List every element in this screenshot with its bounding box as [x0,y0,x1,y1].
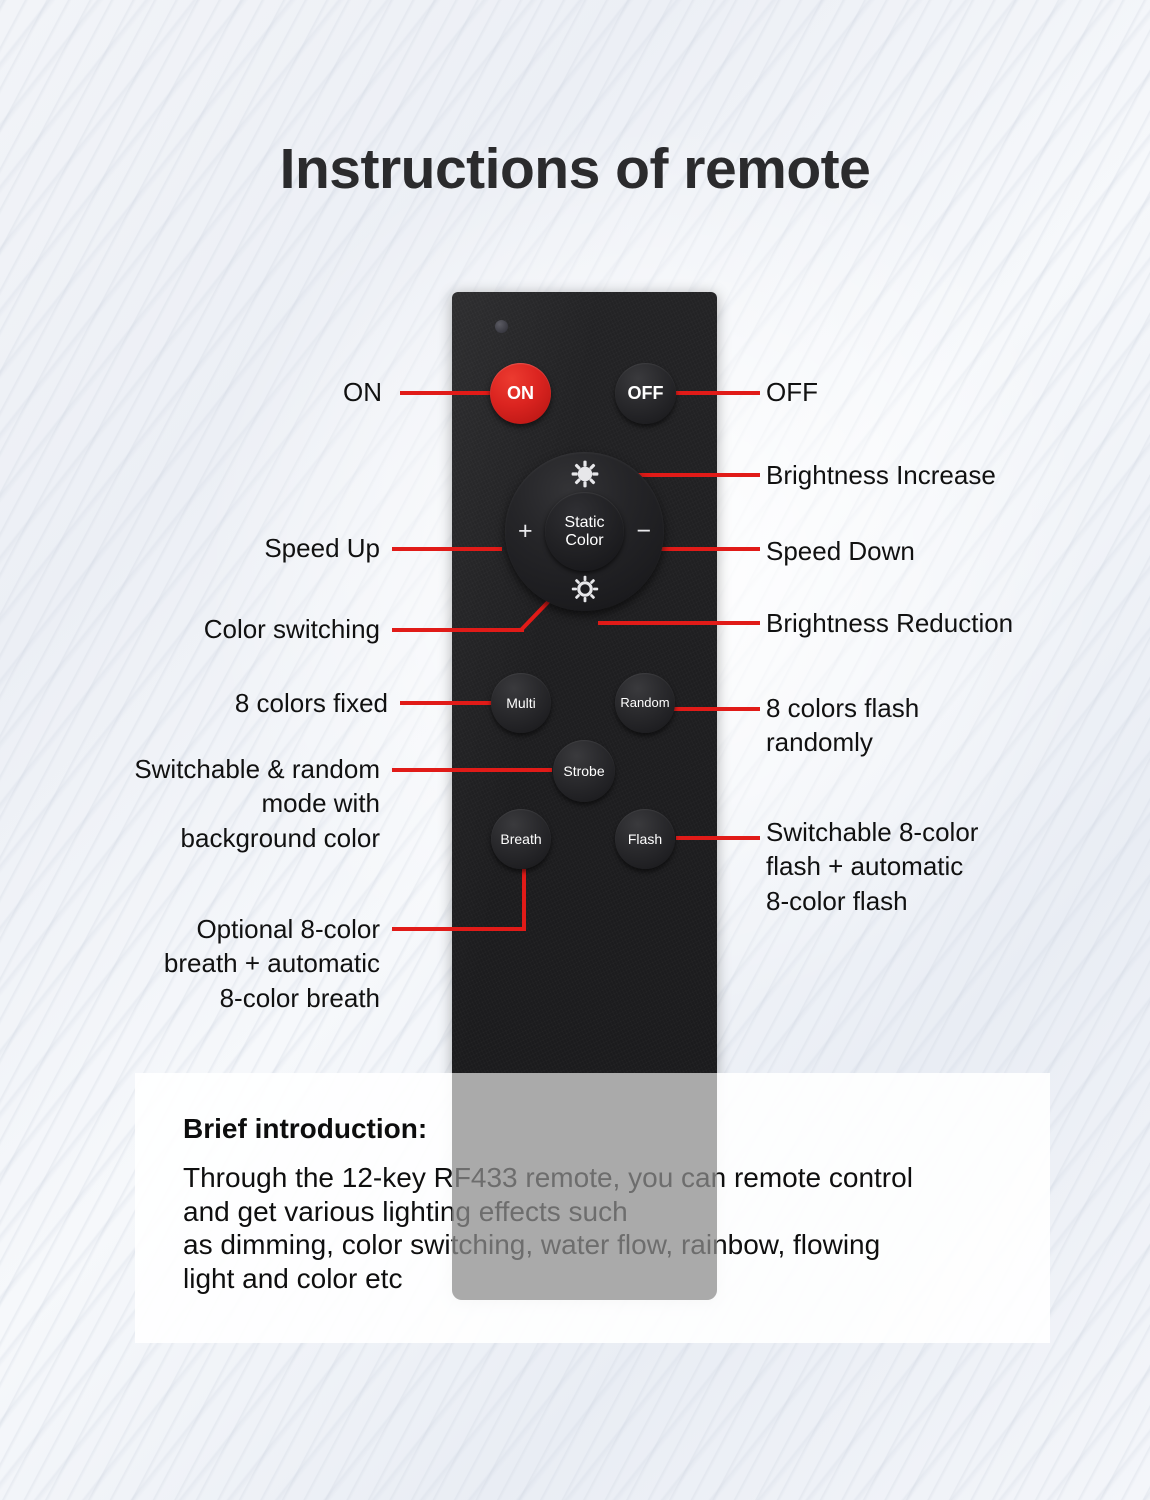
brief-introduction-body: Through the 12-key RF433 remote, you can… [183,1161,1023,1295]
callout-brightness-reduction: Brightness Reduction [766,606,1116,640]
off-button[interactable]: OFF [615,363,676,424]
callout-optional-breath: Optional 8-color breath + automatic 8-co… [30,912,380,1015]
strobe-button[interactable]: Strobe [553,740,615,802]
leader-line-off [676,391,760,395]
callout-switchable-flash: Switchable 8-color flash + automatic 8-c… [766,815,1106,918]
callout-on: ON [120,375,382,409]
leader-line-switchable-random [392,768,552,772]
leader-line-switchable-flash [676,836,760,840]
multi-button[interactable]: Multi [491,673,551,733]
callout-colors-fixed: 8 colors fixed [90,686,388,720]
instruction-poster: Instructions of remote ON OFF [0,0,1150,1500]
callout-switchable-random: Switchable & random mode with background… [30,752,380,855]
breath-button[interactable]: Breath [491,809,551,869]
leader-line-color-switching [392,628,524,632]
speed-down-button[interactable]: − [636,519,651,544]
static-color-button[interactable]: Static Color [545,492,624,571]
leader-line-optional-breath-vertical [522,869,526,931]
callout-off: OFF [766,375,1106,409]
leader-line-speed-up [392,547,502,551]
callout-speed-up: Speed Up [80,531,380,565]
random-button[interactable]: Random [615,673,675,733]
ir-led-dot [495,320,508,333]
sun-outline-icon[interactable] [570,574,600,604]
callout-colors-flash-random: 8 colors flash randomly [766,691,1106,760]
callout-speed-down: Speed Down [766,534,1106,568]
speed-up-button[interactable]: + [518,519,533,544]
flash-button[interactable]: Flash [615,809,675,869]
leader-line-speed-down [660,547,760,551]
on-button[interactable]: ON [490,363,551,424]
leader-line-optional-breath [392,927,526,931]
brief-introduction-heading: Brief introduction: [183,1113,427,1145]
callout-color-switching: Color switching [60,612,380,646]
callout-brightness-increase: Brightness Increase [766,458,1106,492]
leader-line-brightness-reduction [598,621,760,625]
brief-introduction-panel: Brief introduction: Through the 12-key R… [135,1073,1050,1343]
sun-filled-icon[interactable] [570,459,600,489]
dial-control[interactable]: + − Static Color [505,452,664,611]
static-color-label-line2: Color [565,532,603,550]
leader-line-on [400,391,490,395]
leader-line-colors-flash-random [668,707,760,711]
leader-line-colors-fixed [400,701,500,705]
static-color-label-line1: Static [564,514,604,532]
page-title: Instructions of remote [0,136,1150,202]
